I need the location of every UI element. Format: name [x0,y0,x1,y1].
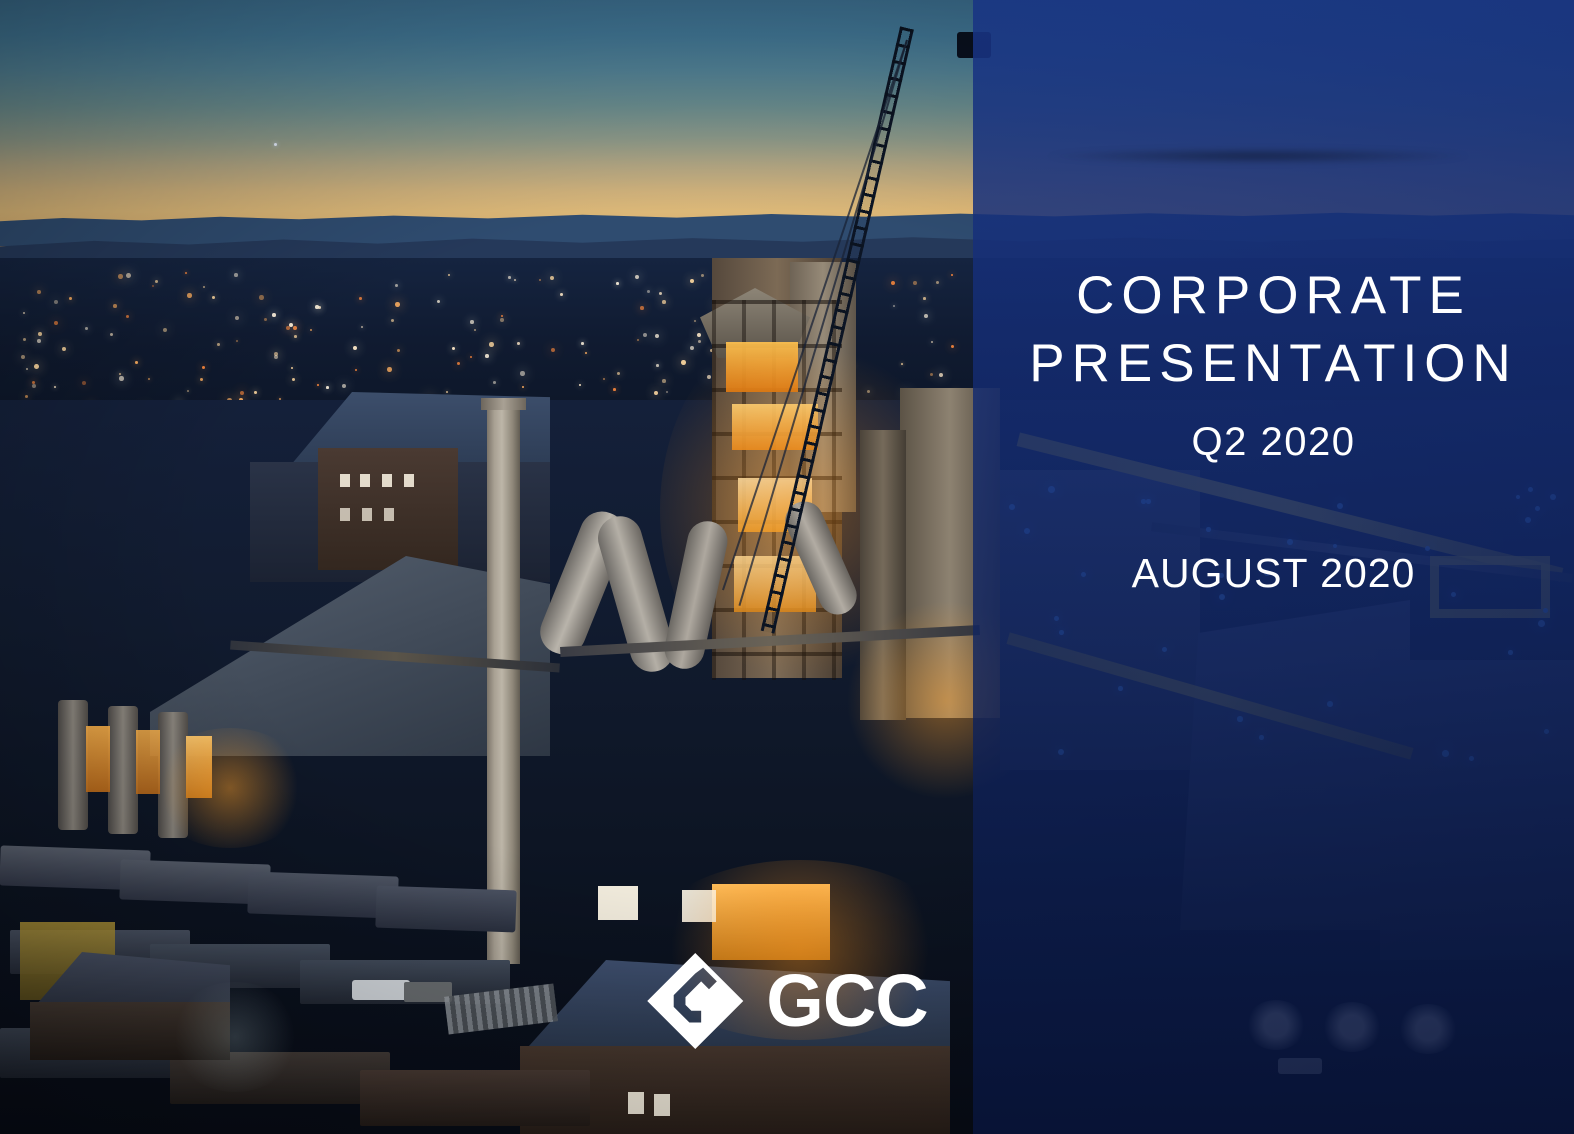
presentation-date: AUGUST 2020 [1132,550,1416,597]
gcc-wordmark: GCC [766,964,927,1038]
title-line-2: PRESENTATION [1029,330,1517,398]
subtitle-quarter: Q2 2020 [1192,420,1356,465]
gcc-logo: GCC [646,952,927,1050]
page-title: CORPORATE PRESENTATION [1029,262,1517,398]
title-line-1: CORPORATE [1029,262,1517,330]
title-slide: CORPORATE PRESENTATION Q2 2020 AUGUST 20… [0,0,1574,1134]
title-text-block: CORPORATE PRESENTATION Q2 2020 AUGUST 20… [973,0,1574,1134]
gcc-diamond-icon [646,952,744,1050]
